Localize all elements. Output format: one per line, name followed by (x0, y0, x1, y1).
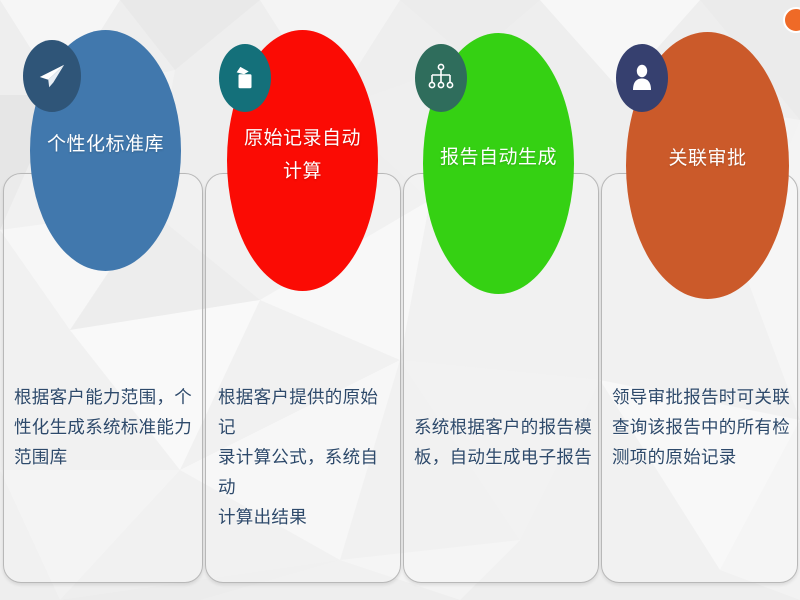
feature-badge-2[interactable] (219, 44, 271, 112)
feature-description-1: 根据客户能力范围，个 性化生成系统标准能力 范围库 (14, 382, 194, 472)
feature-description-3: 系统根据客户的报告模 板，自动生成电子报告 (414, 412, 592, 472)
org-chart-icon (427, 63, 455, 93)
feature-title-3: 报告自动生成 (440, 141, 557, 174)
feature-badge-3[interactable] (415, 44, 467, 112)
feature-badge-1[interactable] (23, 40, 81, 112)
person-icon (629, 63, 655, 93)
slide-canvas: 根据客户能力范围，个 性化生成系统标准能力 范围库 根据客户提供的原始记 录计算… (0, 0, 800, 600)
feature-description-2: 根据客户提供的原始记 录计算公式，系统自动 计算出结果 (218, 382, 394, 532)
feature-description-4: 领导审批报告时可关联 查询该报告中的所有检 测项的原始记录 (612, 382, 792, 472)
paper-plane-icon (37, 61, 67, 91)
feature-title-1: 个性化标准库 (47, 128, 164, 161)
feature-title-2: 原始记录自动 计算 (244, 122, 361, 188)
feature-title-4: 关联审批 (668, 142, 746, 175)
feature-badge-4[interactable] (616, 44, 668, 112)
calculator-icon (232, 64, 258, 92)
